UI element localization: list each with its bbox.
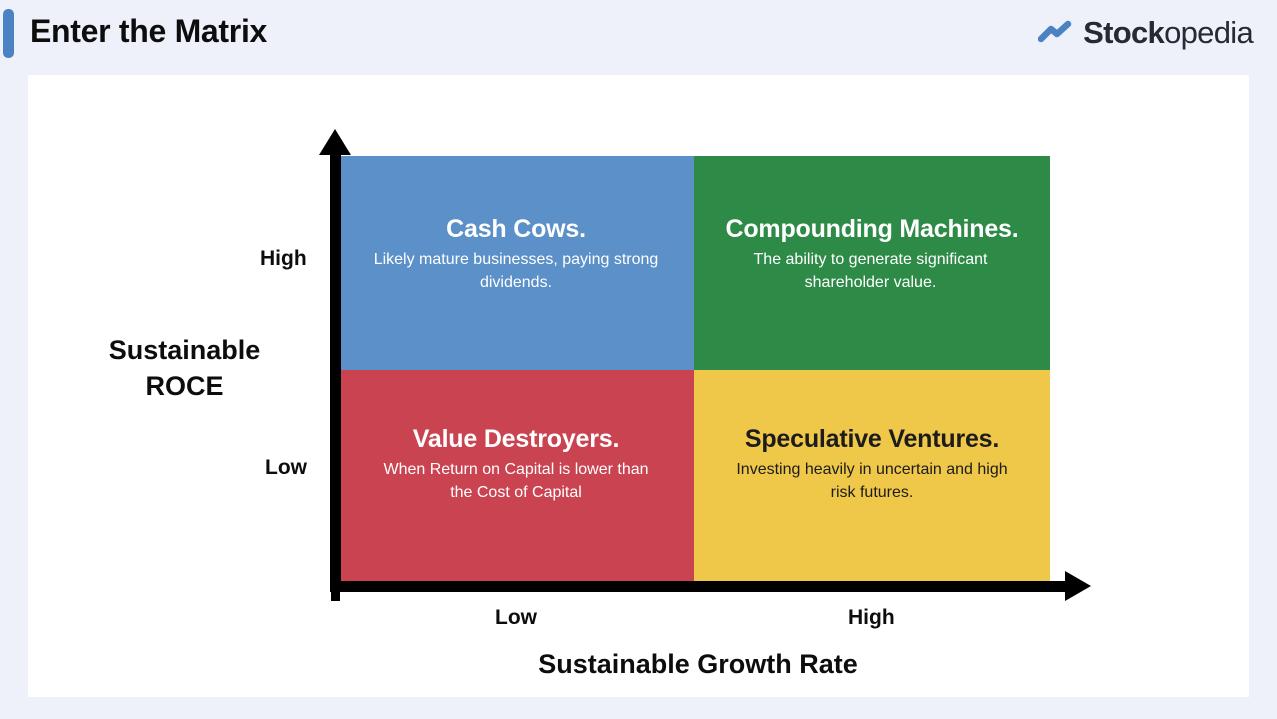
stockopedia-logo[interactable]: Stockopedia — [1038, 13, 1253, 53]
quadrant-title: Cash Cows. — [371, 215, 661, 244]
y-axis-tick-low: Low — [265, 456, 307, 480]
page-title: Enter the Matrix — [30, 13, 267, 50]
origin-tick-mark — [331, 572, 340, 601]
x-axis-tick-high: High — [848, 606, 895, 630]
matrix-card: Cash Cows. Likely mature businesses, pay… — [28, 75, 1249, 697]
quadrant-description: Likely mature businesses, paying strong … — [371, 249, 661, 294]
quadrant-title: Speculative Ventures. — [727, 425, 1017, 454]
x-axis-title: Sustainable Growth Rate — [398, 647, 998, 683]
header-accent-bar — [3, 9, 14, 58]
x-axis-tick-low: Low — [495, 606, 537, 630]
quadrant-compounding-machines[interactable]: Compounding Machines. The ability to gen… — [694, 156, 1050, 370]
matrix-chart: Cash Cows. Likely mature businesses, pay… — [28, 75, 1249, 697]
quadrant-speculative-ventures[interactable]: Speculative Ventures. Investing heavily … — [694, 370, 1050, 584]
quadrant-description: When Return on Capital is lower than the… — [371, 459, 661, 504]
quadrant-cash-cows[interactable]: Cash Cows. Likely mature businesses, pay… — [338, 156, 694, 370]
quadrant-description: Investing heavily in uncertain and high … — [727, 459, 1017, 504]
quadrant-title: Value Destroyers. — [371, 425, 661, 454]
y-axis-title-line-2: ROCE — [92, 369, 277, 405]
logo-wordmark-light: opedia — [1164, 15, 1253, 50]
y-axis-line — [330, 140, 341, 592]
y-axis-title-line-1: Sustainable — [92, 333, 277, 369]
trend-line-icon — [1038, 20, 1072, 46]
y-axis-arrow-icon — [319, 129, 351, 155]
y-axis-tick-high: High — [260, 247, 307, 271]
y-axis-title: Sustainable ROCE — [92, 333, 277, 405]
quadrant-description: The ability to generate significant shar… — [725, 249, 1015, 294]
x-axis-line — [330, 581, 1067, 592]
quadrant-title: Compounding Machines. — [725, 215, 1018, 244]
quadrant-grid: Cash Cows. Likely mature businesses, pay… — [338, 156, 1050, 584]
logo-wordmark: Stockopedia — [1083, 15, 1253, 51]
x-axis-arrow-icon — [1065, 571, 1091, 601]
logo-wordmark-bold: Stock — [1083, 15, 1164, 50]
page-header: Enter the Matrix Stockopedia — [0, 0, 1277, 75]
quadrant-value-destroyers[interactable]: Value Destroyers. When Return on Capital… — [338, 370, 694, 584]
